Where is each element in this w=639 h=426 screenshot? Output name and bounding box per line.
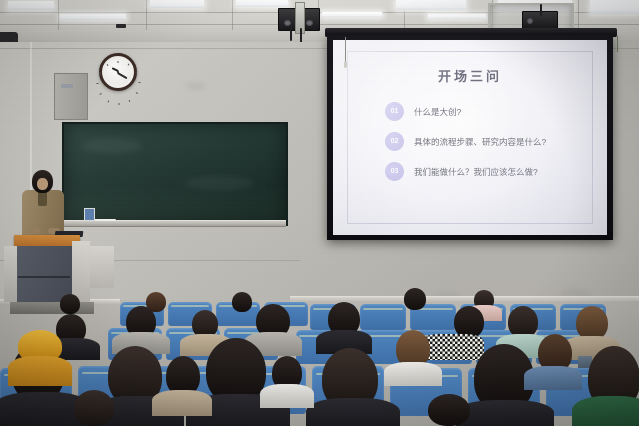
audience-shoulders bbox=[260, 384, 314, 408]
ceiling-light-fixture bbox=[428, 14, 486, 19]
presenter-face bbox=[37, 178, 48, 190]
audience-shoulders-foreground bbox=[572, 396, 639, 426]
audience-head bbox=[74, 390, 114, 426]
podium-base bbox=[10, 302, 94, 314]
projector-left-cable bbox=[290, 28, 292, 41]
ceiling-light-fixture bbox=[150, 0, 204, 8]
audience-shoulders-foreground bbox=[456, 400, 554, 426]
ceiling-light-fixture bbox=[8, 1, 54, 10]
audience-head bbox=[232, 292, 252, 312]
lecture-hall-photo: 开场三问 01 什么是大创? 02 具体的流程步骤、研究内容是什么? 03 我们… bbox=[0, 0, 639, 426]
audience-head bbox=[404, 288, 426, 310]
presenter-hands bbox=[28, 228, 40, 234]
audience-shoulders-foreground bbox=[306, 398, 400, 426]
slide-bullet-text: 我们能做什么？我们应该怎么做? bbox=[414, 166, 538, 178]
ceiling-light-fixture bbox=[590, 0, 639, 14]
audience-head bbox=[60, 294, 80, 314]
slide-bullet-row-1: 01 什么是大创? bbox=[385, 102, 461, 121]
chalk-tray bbox=[60, 220, 286, 227]
screen-pull-cord[interactable] bbox=[345, 37, 346, 63]
podium-side-panel bbox=[4, 246, 17, 302]
audience-shoulders bbox=[524, 366, 582, 390]
screen-side-wire bbox=[617, 36, 618, 52]
audience-shoulders bbox=[384, 362, 442, 386]
projection-screen: 开场三问 01 什么是大创? 02 具体的流程步骤、研究内容是什么? 03 我们… bbox=[327, 35, 613, 240]
slide-bullet-badge: 01 bbox=[385, 102, 404, 121]
audience-shoulders bbox=[152, 390, 212, 416]
audience-shoulders bbox=[8, 356, 72, 386]
slide-bullet-text: 具体的流程步骤、研究内容是什么? bbox=[414, 136, 546, 148]
podium-top bbox=[14, 235, 80, 246]
projector-right-cable bbox=[540, 4, 542, 16]
podium-wall-panel bbox=[90, 246, 114, 288]
slide-bullet-text: 什么是大创? bbox=[414, 106, 461, 118]
screen-pull-cord-knob[interactable] bbox=[344, 61, 347, 68]
podium-side-panel bbox=[72, 241, 90, 303]
ceiling-sensor bbox=[116, 24, 126, 28]
slide-bullet-row-3: 03 我们能做什么？我们应该怎么做? bbox=[385, 162, 538, 181]
seat bbox=[360, 304, 406, 330]
slide-bullet-badge: 03 bbox=[385, 162, 404, 181]
chalk-stick bbox=[94, 219, 116, 221]
slide-bullet-badge: 02 bbox=[385, 132, 404, 151]
podium-panel-line bbox=[18, 276, 70, 278]
screen-surface: 开场三问 01 什么是大创? 02 具体的流程步骤、研究内容是什么? 03 我们… bbox=[333, 40, 607, 235]
wall-clock bbox=[99, 53, 137, 91]
audience-head bbox=[576, 306, 608, 340]
slide-bullet-row-2: 02 具体的流程步骤、研究内容是什么? bbox=[385, 132, 546, 151]
ceiling-light-fixture bbox=[396, 0, 466, 10]
audience-head bbox=[428, 394, 470, 426]
board-sticker bbox=[84, 208, 95, 221]
ceiling-light-fixture bbox=[322, 12, 382, 17]
ceiling-light-fixture bbox=[236, 0, 288, 7]
green-chalkboard bbox=[62, 122, 288, 226]
slide-title: 开场三问 bbox=[333, 66, 607, 85]
ceiling-light-fixture bbox=[60, 14, 126, 20]
podium-front-panel bbox=[16, 246, 72, 302]
wall-utility-box bbox=[54, 73, 88, 120]
